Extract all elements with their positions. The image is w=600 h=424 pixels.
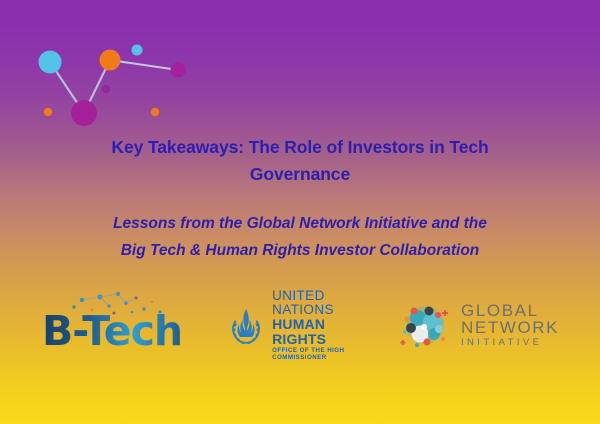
gni-logo-line-3: INITIATIVE xyxy=(461,338,559,348)
node-medium-magenta xyxy=(171,63,186,78)
slide-title: Key Takeaways: The Role of Investors in … xyxy=(0,134,600,188)
node-large-orange xyxy=(100,50,121,71)
node-small-orange-right xyxy=(151,108,159,116)
node-large-magenta xyxy=(71,100,97,126)
b-tech-wordmark: B-Tech xyxy=(42,307,182,355)
global-network-initiative-logo: GLOBAL NETWORK INITIATIVE xyxy=(398,285,573,365)
un-logo-line-1: UNITED NATIONS xyxy=(272,289,383,317)
node-large-cyan xyxy=(39,51,62,74)
un-flame-laurel-icon xyxy=(228,302,264,348)
gni-logo-line-2: NETWORK xyxy=(461,319,559,336)
slide-title-line-1: Key Takeaways: The Role of Investors in … xyxy=(0,134,600,161)
gni-logo-line-1: GLOBAL xyxy=(461,302,559,319)
b-tech-logo: B-Tech xyxy=(38,285,213,365)
network-node-group xyxy=(39,45,186,127)
slide-subtitle-line-2: Big Tech & Human Rights Investor Collabo… xyxy=(0,237,600,264)
un-logo-line-2: HUMAN RIGHTS xyxy=(272,317,383,346)
gni-circle-cluster-icon xyxy=(398,298,452,352)
un-logo-line-3: OFFICE OF THE HIGH COMMISSIONER xyxy=(272,348,383,361)
slide-title-line-2: Governance xyxy=(0,161,600,188)
network-nodes-graphic xyxy=(18,28,218,133)
slide-subtitle-line-1: Lessons from the Global Network Initiati… xyxy=(0,210,600,237)
slide-subtitle: Lessons from the Global Network Initiati… xyxy=(0,210,600,264)
node-small-purple xyxy=(102,85,110,93)
presentation-slide: Key Takeaways: The Role of Investors in … xyxy=(0,0,600,424)
node-small-cyan xyxy=(132,45,143,56)
un-human-rights-logo: UNITED NATIONS HUMAN RIGHTS OFFICE OF TH… xyxy=(228,285,383,365)
logo-strip: B-Tech xyxy=(0,285,600,365)
node-small-orange-left xyxy=(44,108,52,116)
